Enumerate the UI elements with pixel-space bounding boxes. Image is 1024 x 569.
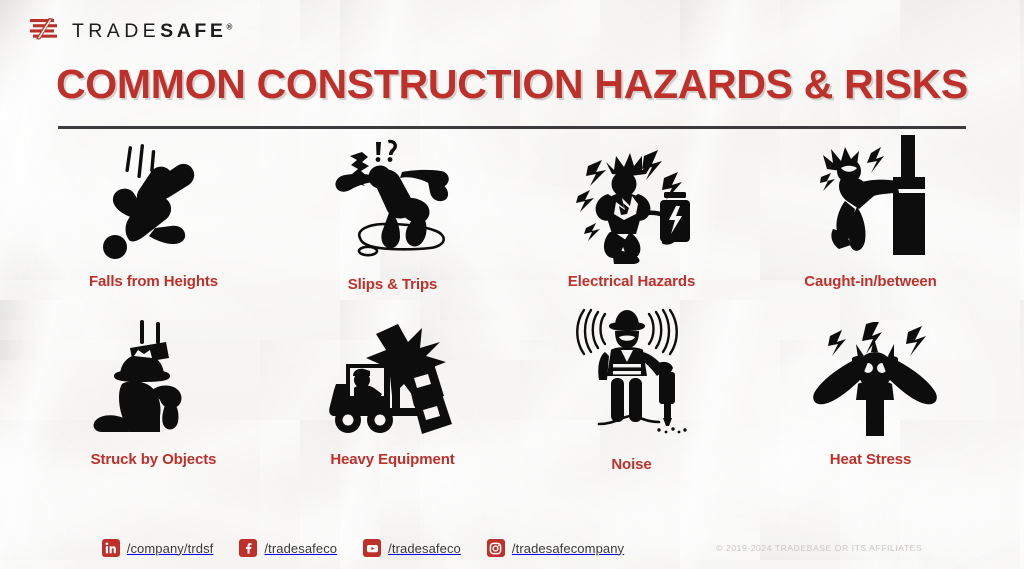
- social-link-youtube[interactable]: /tradesafeco: [363, 539, 461, 557]
- falling-person-icon: [93, 142, 211, 264]
- linkedin-icon: [102, 539, 120, 557]
- heat-stress-person-icon: [808, 320, 942, 442]
- copyright-notice: © 2019-2024 TRADEBASE OR ITS AFFILIATES: [716, 543, 922, 553]
- hazard-item-heavy-equipment: Heavy Equipment: [273, 320, 512, 480]
- hazard-label: Falls from Heights: [89, 273, 218, 290]
- social-link-facebook[interactable]: /tradesafeco: [239, 539, 337, 557]
- tradesafe-logo-icon: [30, 17, 60, 46]
- hazard-item-struck-by-objects: Struck by Objects: [34, 320, 273, 480]
- social-handle: /tradesafeco: [264, 541, 337, 556]
- brand-name-light: TRADE: [72, 20, 160, 42]
- brand-header: TRADESAFE®: [30, 17, 232, 46]
- social-link-instagram[interactable]: /tradesafecompany: [487, 539, 624, 557]
- social-handle: /tradesafecompany: [512, 541, 624, 556]
- title-divider: [58, 126, 966, 129]
- facebook-icon: [239, 539, 257, 557]
- hazard-item-caught-in-between: Caught-in/between: [751, 142, 990, 302]
- jackhammer-noise-icon: [571, 314, 697, 436]
- hazard-label: Heat Stress: [830, 451, 911, 468]
- social-handle: /company/trdsf: [127, 541, 214, 556]
- hazard-label: Slips & Trips: [348, 276, 438, 293]
- hazard-grid: Falls from Heights: [34, 142, 990, 480]
- slipping-person-icon: [332, 138, 466, 260]
- brand-wordmark: TRADESAFE®: [72, 22, 232, 42]
- hazard-label: Struck by Objects: [91, 451, 217, 468]
- infographic-page: TRADESAFE® COMMON CONSTRUCTION HAZARDS &…: [0, 0, 1024, 569]
- youtube-icon: [363, 539, 381, 557]
- hazard-item-slips-and-trips: Slips & Trips: [273, 142, 512, 302]
- electric-shock-icon: [572, 142, 704, 264]
- hazard-item-falls-from-heights: Falls from Heights: [34, 142, 273, 302]
- hazard-label: Heavy Equipment: [330, 451, 454, 468]
- hazard-item-electrical-hazards: Electrical Hazards: [512, 142, 751, 302]
- registered-mark: ®: [227, 22, 233, 31]
- hazard-label: Noise: [611, 456, 651, 473]
- forklift-accident-icon: [328, 320, 462, 442]
- hazard-label: Caught-in/between: [804, 273, 936, 290]
- hazard-label: Electrical Hazards: [568, 273, 695, 290]
- hazard-item-noise: Noise: [512, 320, 751, 480]
- brand-name-bold: SAFE: [160, 20, 226, 42]
- instagram-icon: [487, 539, 505, 557]
- social-handle: /tradesafeco: [388, 541, 461, 556]
- hazard-item-heat-stress: Heat Stress: [751, 320, 990, 480]
- page-title: COMMON CONSTRUCTION HAZARDS & RISKS: [0, 62, 1024, 107]
- footer-social-bar: /company/trdsf /tradesafeco /trades: [0, 539, 1024, 557]
- falling-object-worker-icon: [86, 320, 210, 442]
- caught-in-machine-icon: [819, 139, 947, 261]
- social-link-linkedin[interactable]: /company/trdsf: [102, 539, 214, 557]
